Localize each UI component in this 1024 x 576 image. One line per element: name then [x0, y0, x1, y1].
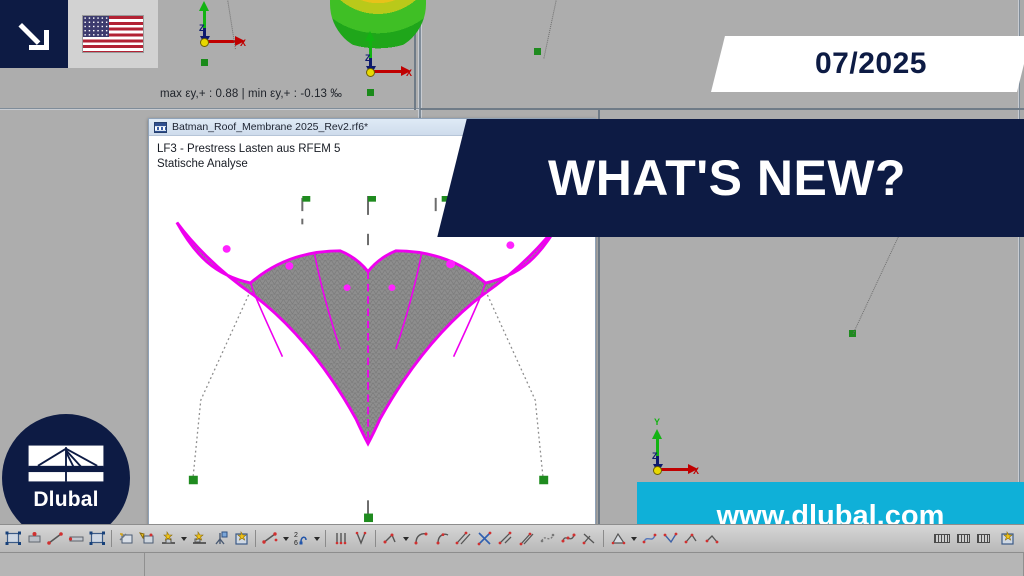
- new-nodal-support-icon[interactable]: [158, 529, 178, 549]
- toolbar-separator: [375, 530, 376, 547]
- toolbar-separator: [603, 530, 604, 547]
- line-icon[interactable]: [45, 529, 65, 549]
- new-surface-support-icon[interactable]: [210, 529, 230, 549]
- line-from-points-icon[interactable]: [579, 529, 599, 549]
- toolbar-right-group[interactable]: [934, 529, 1021, 549]
- axis-label-x: X: [240, 38, 246, 48]
- new-solid-icon[interactable]: [231, 529, 251, 549]
- chevron-down-icon[interactable]: [629, 529, 638, 549]
- corner-arrow-badge: [0, 0, 68, 68]
- screenshot-root: Y Z X Z X Y Z X: [0, 0, 1024, 576]
- axis-label-x: X: [693, 466, 699, 476]
- load-case-label: LF3 - Prestress Lasten aus RFEM 5: [157, 142, 340, 157]
- quadrangle-surface-icon[interactable]: [639, 529, 659, 549]
- support-node-square: [367, 89, 374, 96]
- coordinate-triad-top-center: Z X: [352, 22, 416, 82]
- coordinate-input-icon[interactable]: 26: [291, 529, 311, 549]
- chevron-down-icon[interactable]: [312, 529, 321, 549]
- status-cell-1: [0, 553, 145, 576]
- spline-icon[interactable]: [558, 529, 578, 549]
- toolbar-separator: [111, 530, 112, 547]
- member-icon[interactable]: [66, 529, 86, 549]
- triangle-surface-icon[interactable]: [660, 529, 680, 549]
- node-icon[interactable]: [24, 529, 44, 549]
- panel-divider-horizontal: [420, 108, 1024, 110]
- load-case-info: LF3 - Prestress Lasten aus RFEM 5 Statis…: [157, 142, 340, 172]
- support-node-square: [201, 59, 208, 66]
- date-label: 07/2025: [815, 47, 927, 81]
- axis-label-y: Y: [654, 417, 660, 427]
- dlubal-bridge-icon: [27, 444, 105, 485]
- new-member-icon[interactable]: [189, 529, 209, 549]
- axis-label-z: Z: [199, 23, 205, 33]
- arc-surface-icon[interactable]: [681, 529, 701, 549]
- svg-text:2: 2: [294, 532, 298, 539]
- grid-snap-icon[interactable]: [934, 534, 950, 543]
- offset-line-icon[interactable]: [516, 529, 536, 549]
- chevron-down-icon[interactable]: [281, 529, 290, 549]
- object-snap-icon[interactable]: [957, 534, 970, 543]
- vertical-members-icon[interactable]: [351, 529, 371, 549]
- toolbar-separator: [325, 530, 326, 547]
- surface-icon[interactable]: [87, 529, 107, 549]
- chevron-down-icon[interactable]: [401, 529, 410, 549]
- flag-canton: [83, 16, 109, 37]
- surface-plane-icon[interactable]: [608, 529, 628, 549]
- analysis-type-label: Statische Analyse: [157, 157, 340, 172]
- whats-new-banner: WHAT'S NEW?: [437, 119, 1024, 237]
- coordinate-triad-top-left: Y Z X: [186, 0, 250, 52]
- nurbs-line-icon[interactable]: [537, 529, 557, 549]
- origin-node: [653, 466, 662, 475]
- bottom-toolbar[interactable]: 26: [0, 524, 1024, 552]
- strain-readout-text: max εy,+ : 0.88 | min εy,+ : -0.13 ‰: [160, 88, 342, 100]
- new-line-support-icon[interactable]: [137, 529, 157, 549]
- intersect-line-icon[interactable]: [474, 529, 494, 549]
- model-window-title: Batman_Roof_Membrane 2025_Rev2.rf6*: [172, 121, 368, 133]
- line-polyline-icon[interactable]: [380, 529, 400, 549]
- render-mode-icon[interactable]: [997, 529, 1017, 549]
- us-flag-icon: [82, 15, 144, 53]
- ortho-snap-icon[interactable]: [977, 534, 990, 543]
- new-node-icon[interactable]: [116, 529, 136, 549]
- tangent-line-icon[interactable]: [495, 529, 515, 549]
- coordinate-triad-bottom-right: Y Z X: [639, 420, 703, 480]
- language-flag-box[interactable]: [68, 0, 158, 68]
- dimension-line-icon[interactable]: [260, 529, 280, 549]
- axis-label-x: X: [406, 68, 412, 78]
- origin-node: [200, 38, 209, 47]
- strain-readout: max εy,+ : 0.88 | min εy,+ : -0.13 ‰: [160, 88, 342, 100]
- rfem-document-icon: [154, 122, 167, 133]
- axis-label-z: Z: [365, 53, 371, 63]
- select-objects-icon[interactable]: [3, 529, 23, 549]
- toolbar-separator: [255, 530, 256, 547]
- whats-new-headline: WHAT'S NEW?: [548, 149, 906, 207]
- support-node-square: [534, 48, 541, 55]
- axis-label-z: Z: [652, 451, 658, 461]
- status-bar: [0, 552, 1024, 576]
- chevron-down-icon[interactable]: [179, 529, 188, 549]
- origin-node: [366, 68, 375, 77]
- model-viewport[interactable]: [155, 196, 589, 523]
- membrane-roof-drawing: [155, 196, 589, 523]
- dlubal-logo-text: Dlubal: [33, 488, 98, 512]
- svg-text:6: 6: [294, 540, 298, 547]
- date-banner: 07/2025: [711, 36, 1024, 92]
- dlubal-logo[interactable]: Dlubal: [2, 414, 130, 542]
- parallel-line-icon[interactable]: [453, 529, 473, 549]
- status-cell-2: [145, 553, 1024, 576]
- nurbs-surface-icon[interactable]: [702, 529, 722, 549]
- arc-line-icon[interactable]: [411, 529, 431, 549]
- arc-3point-icon[interactable]: [432, 529, 452, 549]
- parallel-lines-icon[interactable]: [330, 529, 350, 549]
- arrow-down-right-icon: [20, 20, 48, 48]
